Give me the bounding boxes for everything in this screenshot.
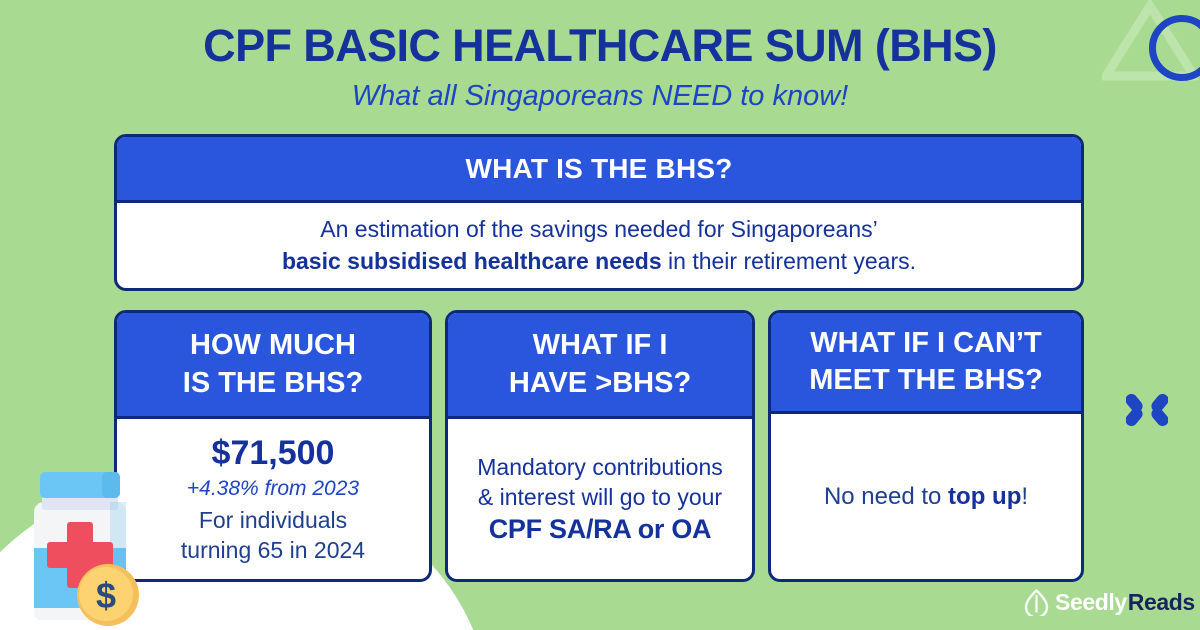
cant-meet-answer-prefix: No need to — [824, 483, 948, 510]
logo-text-seedly: Seedly — [1055, 589, 1127, 616]
bhs-amount-change: +4.38% from 2023 — [187, 475, 359, 503]
card-cant-meet-heading-line-1: WHAT IF I CAN’T — [810, 325, 1041, 362]
have-more-line-1: Mandatory contributions — [477, 453, 722, 483]
card-have-more-heading-line-2: HAVE >BHS? — [509, 365, 691, 402]
card-cant-meet-body: No need to top up! — [771, 414, 1081, 579]
coin-dollar-symbol: $ — [96, 575, 116, 616]
have-more-line-2: & interest will go to your — [478, 483, 722, 513]
definition-line-tail: in their retirement years. — [662, 248, 916, 274]
card-what-if-i-have-more-than-bhs: WHAT IF I HAVE >BHS? Mandatory contribut… — [445, 310, 755, 582]
card-how-much-body: $71,500 +4.38% from 2023 For individuals… — [117, 419, 429, 579]
bhs-eligibility-line-1: For individuals — [199, 506, 347, 534]
card-how-much-heading-line-2: IS THE BHS? — [183, 365, 363, 402]
card-have-more-heading: WHAT IF I HAVE >BHS? — [448, 313, 752, 419]
bhs-amount-value: $71,500 — [212, 434, 335, 473]
page-title: CPF BASIC HEALTHCARE SUM (BHS) — [0, 20, 1200, 72]
infographic-canvas: CPF BASIC HEALTHCARE SUM (BHS) What all … — [0, 0, 1200, 630]
seedly-reads-logo[interactable]: Seedly Reads — [1024, 589, 1195, 616]
card-what-is-bhs: WHAT IS THE BHS? An estimation of the sa… — [114, 134, 1084, 291]
logo-text-reads: Reads — [1128, 589, 1195, 616]
card-what-is-bhs-body: An estimation of the savings needed for … — [117, 203, 1081, 288]
seedly-leaf-icon — [1024, 589, 1049, 616]
card-how-much-heading: HOW MUCH IS THE BHS? — [117, 313, 429, 419]
definition-line-1: An estimation of the savings needed for … — [282, 214, 916, 246]
card-cant-meet-heading: WHAT IF I CAN’T MEET THE BHS? — [771, 313, 1081, 414]
definition-bold-phrase: basic subsidised healthcare needs — [282, 248, 662, 274]
card-have-more-body: Mandatory contributions & interest will … — [448, 419, 752, 579]
card-what-is-bhs-heading: WHAT IS THE BHS? — [117, 137, 1081, 203]
page-subtitle: What all Singaporeans NEED to know! — [0, 80, 1200, 113]
cant-meet-answer-suffix: ! — [1021, 483, 1028, 510]
sparkle-x-icon — [1126, 388, 1168, 430]
card-how-much-heading-line-1: HOW MUCH — [190, 327, 356, 364]
card-what-if-i-cant-meet-the-bhs: WHAT IF I CAN’T MEET THE BHS? No need to… — [768, 310, 1084, 582]
have-more-destination-accounts: CPF SA/RA or OA — [489, 513, 712, 545]
cant-meet-answer: No need to top up! — [824, 481, 1028, 512]
bhs-eligibility-line-2: turning 65 in 2024 — [181, 536, 365, 564]
cant-meet-answer-bold: top up — [948, 483, 1021, 510]
card-how-much-is-the-bhs: HOW MUCH IS THE BHS? $71,500 +4.38% from… — [114, 310, 432, 582]
card-have-more-heading-line-1: WHAT IF I — [533, 327, 668, 364]
card-cant-meet-heading-line-2: MEET THE BHS? — [809, 362, 1043, 399]
